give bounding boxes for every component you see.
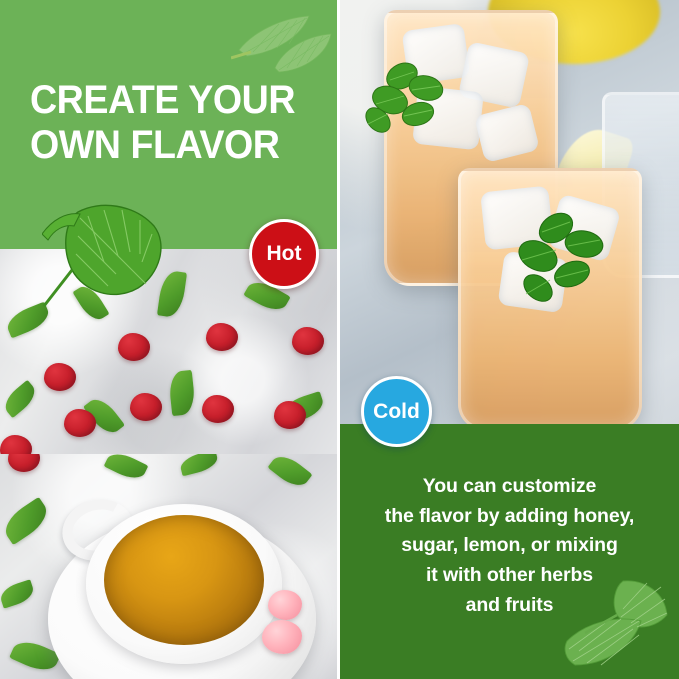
raspberry-icon	[44, 363, 76, 391]
mint-leaf-icon	[178, 454, 219, 476]
cold-badge[interactable]: Cold	[361, 376, 432, 447]
mint-leaf-icon	[0, 497, 53, 545]
raspberry-icon	[130, 393, 162, 421]
ice-cube	[547, 194, 621, 263]
mint-leaf-icon	[72, 282, 109, 325]
mint-leaf-icon	[168, 370, 196, 416]
candy-icon	[268, 590, 302, 620]
teacup-photo	[0, 454, 337, 679]
page-title: CREATE YOUR OWN FLAVOR	[30, 78, 312, 168]
mint-leaf-icon	[157, 270, 187, 319]
cold-badge-label: Cold	[373, 400, 420, 424]
copy-text: You can customize the flavor by adding h…	[340, 472, 679, 620]
hot-badge-label: Hot	[267, 242, 302, 266]
tea-liquid	[104, 515, 264, 645]
mint-leaf-icon	[104, 454, 149, 484]
raspberry-icon	[202, 395, 234, 423]
raspberry-icon	[64, 409, 96, 437]
ice-cube	[412, 86, 484, 151]
raspberry-icon	[118, 333, 150, 361]
ice-cube	[474, 103, 540, 163]
raspberry-icon	[206, 323, 238, 351]
mint-leaf-icon	[0, 579, 36, 609]
iced-tea-photo	[340, 0, 679, 424]
ice-cube	[402, 23, 471, 85]
product-infographic-poster: CREATE YOUR OWN FLAVOR	[0, 0, 679, 679]
raspberry-icon	[292, 327, 324, 355]
mint-leaf-icon	[0, 380, 40, 418]
candy-icon	[262, 620, 302, 654]
raspberry-icon	[0, 435, 32, 454]
hot-badge[interactable]: Hot	[249, 219, 319, 289]
mint-leaf-icon	[231, 6, 335, 74]
vertical-divider	[337, 0, 340, 679]
iced-tea-glass-front	[458, 168, 642, 424]
mint-leaf-icon	[3, 302, 52, 339]
ice-cube	[480, 186, 554, 251]
mint-leaf-icon	[267, 454, 312, 492]
header-panel: CREATE YOUR OWN FLAVOR	[0, 0, 337, 249]
raspberry-icon	[274, 401, 306, 429]
ice-cube	[498, 251, 569, 313]
copy-panel: You can customize the flavor by adding h…	[340, 424, 679, 679]
raspberry-icon	[8, 454, 40, 472]
